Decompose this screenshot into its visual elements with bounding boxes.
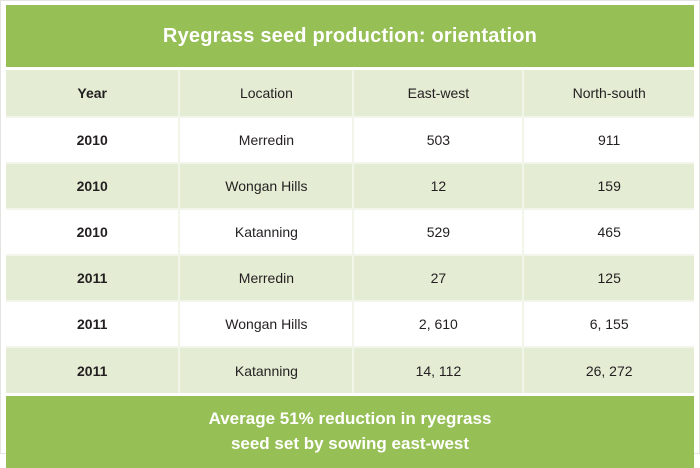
- cell-north-south: 159: [523, 163, 694, 209]
- summary-text: Average 51% reduction in ryegrass seed s…: [209, 407, 492, 456]
- summary-line-2: seed set by sowing east-west: [231, 434, 469, 453]
- column-header-east-west: East-west: [353, 70, 523, 117]
- column-header-location: Location: [179, 70, 353, 117]
- cell-location: Merredin: [179, 117, 353, 163]
- cell-east-west: 12: [353, 163, 523, 209]
- cell-year: 2010: [6, 117, 179, 163]
- page-title: Ryegrass seed production: orientation: [163, 25, 537, 47]
- table-row: 2011 Wongan Hills 2, 610 6, 155: [6, 301, 694, 347]
- cell-location: Katanning: [179, 209, 353, 255]
- table-body: 2010 Merredin 503 911 2010 Wongan Hills …: [6, 117, 694, 393]
- cell-north-south: 125: [523, 255, 694, 301]
- cell-year: 2010: [6, 209, 179, 255]
- summary-banner: Average 51% reduction in ryegrass seed s…: [6, 393, 694, 468]
- table-row: 2010 Merredin 503 911: [6, 117, 694, 163]
- cell-location: Wongan Hills: [179, 163, 353, 209]
- cell-location: Merredin: [179, 255, 353, 301]
- table-header-row: Year Location East-west North-south: [6, 70, 694, 117]
- cell-east-west: 529: [353, 209, 523, 255]
- column-header-north-south: North-south: [523, 70, 694, 117]
- title-banner: Ryegrass seed production: orientation: [6, 5, 694, 67]
- cell-year: 2011: [6, 301, 179, 347]
- table-head: Year Location East-west North-south: [6, 70, 694, 117]
- cell-location: Wongan Hills: [179, 301, 353, 347]
- table-row: 2010 Wongan Hills 12 159: [6, 163, 694, 209]
- table-container: Year Location East-west North-south 2010…: [6, 67, 694, 393]
- cell-year: 2010: [6, 163, 179, 209]
- cell-north-south: 26, 272: [523, 347, 694, 393]
- cell-year: 2011: [6, 255, 179, 301]
- cell-north-south: 465: [523, 209, 694, 255]
- cell-location: Katanning: [179, 347, 353, 393]
- seed-production-table: Year Location East-west North-south 2010…: [6, 70, 694, 393]
- cell-east-west: 14, 112: [353, 347, 523, 393]
- cell-east-west: 27: [353, 255, 523, 301]
- cell-north-south: 911: [523, 117, 694, 163]
- cell-year: 2011: [6, 347, 179, 393]
- table-row: 2011 Merredin 27 125: [6, 255, 694, 301]
- summary-line-1: Average 51% reduction in ryegrass: [209, 409, 492, 428]
- cell-east-west: 503: [353, 117, 523, 163]
- infographic-card: Ryegrass seed production: orientation Ye…: [0, 0, 700, 454]
- cell-north-south: 6, 155: [523, 301, 694, 347]
- table-row: 2010 Katanning 529 465: [6, 209, 694, 255]
- table-row: 2011 Katanning 14, 112 26, 272: [6, 347, 694, 393]
- cell-east-west: 2, 610: [353, 301, 523, 347]
- column-header-year: Year: [6, 70, 179, 117]
